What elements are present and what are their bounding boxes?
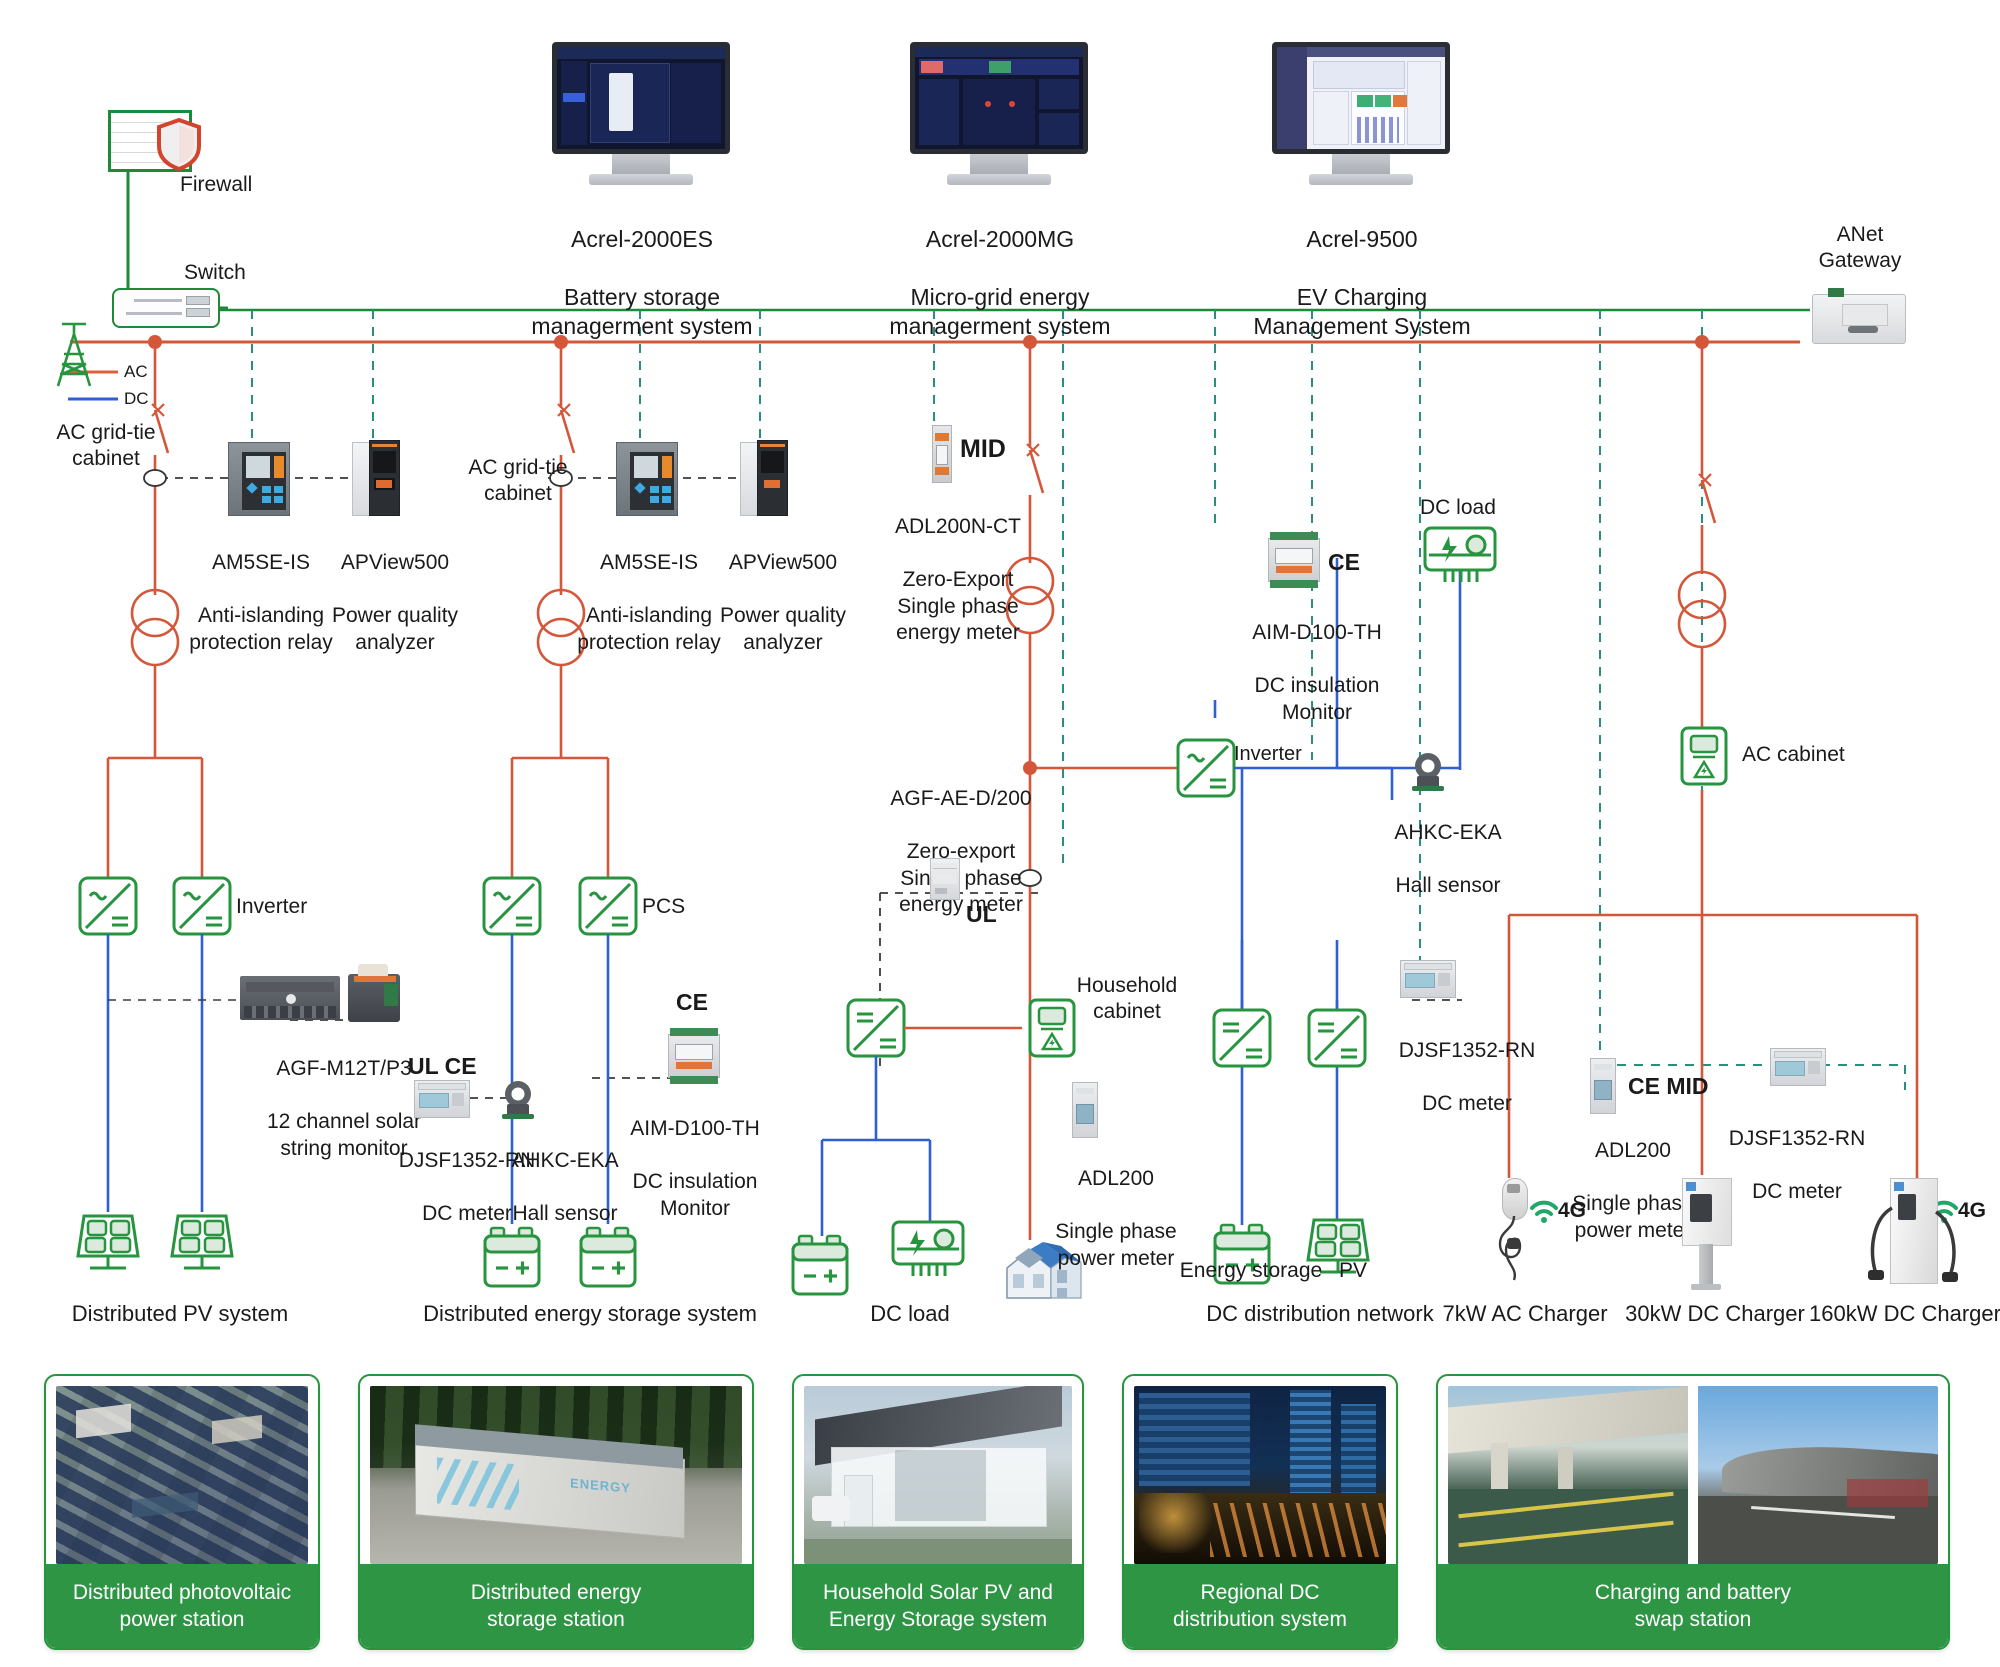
label-aim-d100-th-left: AIM-D100-TH DC insulation Monitor [600,1090,790,1222]
adl200n-ct-icon [932,425,952,483]
dev-desc: Power quality analyzer [332,604,458,653]
dev-name: AM5SE-IS [600,551,698,574]
grid-tower-icon [58,324,90,386]
aim-d100-th-icon-left [668,1028,720,1084]
card-household-solar[interactable]: Household Solar PV and Energy Storage sy… [792,1374,1084,1650]
label-adl200-household: ADL200 Single phase power meter [1026,1140,1206,1272]
label-apview-2: APView500 Power quality analyzer [706,524,860,656]
photo-city-night-skyline [1134,1386,1386,1564]
label-inverter-left: Inverter [236,894,307,920]
dev-name: AGF-M12T/P3 [276,1057,411,1080]
anet-gateway-label: ANet Gateway [1800,222,1920,275]
anet-gateway-icon [1812,288,1904,342]
agf-ae-d200-icon [930,858,960,900]
dev-name: AIM-D100-TH [630,1117,760,1140]
dev-name: AHKC-EKA [1394,821,1501,844]
cert-ul-ce-djsf-left: UL CE [408,1052,477,1081]
apview500-icon-2 [740,440,788,516]
dev-desc: Anti-islanding protection relay [189,604,333,653]
dev-name: APView500 [729,551,837,574]
agf-m12t-icon [240,976,340,1020]
cert-ce-aim-left: CE [676,988,708,1017]
label-distributed-pv-system: Distributed PV system [40,1300,320,1328]
monitor-acrel-2000mg [910,42,1088,188]
am5se-is-icon-2 [616,442,678,516]
label-ahkc-eka-mid: AHKC-EKA Hall sensor [1368,794,1528,900]
system-desc-2: EV Charging Management System [1253,284,1470,339]
label-ac-grid-tie-1: AC grid-tie cabinet [36,420,176,473]
monitor-acrel-2000es [552,42,730,188]
dev-name: AIM-D100-TH [1252,621,1382,644]
dev-desc: DC meter [1752,1180,1842,1203]
label-adl200n-ct: ADL200N-CT Zero-Export Single phase ener… [868,488,1048,647]
am5se-is-icon-1 [228,442,290,516]
aim-d100-th-icon-top [1268,532,1320,588]
dev-name: AGF-AE-D/200 [890,787,1031,810]
monitor-label-1: Acrel-2000MG Micro-grid energy managerme… [860,196,1140,341]
cert-ul-agf: UL [966,900,997,929]
dev-name: DJSF1352-RN [1729,1127,1866,1150]
system-name-2: Acrel-9500 [1306,226,1417,252]
dev-name: ADL200N-CT [895,515,1021,538]
firewall-label: Firewall [180,172,252,198]
legend-lines [68,372,118,399]
dev-name: ADL200 [1595,1139,1671,1162]
card-energy-storage[interactable]: ENERGY Distributed energy storage statio… [358,1374,754,1650]
label-4g-a: 4G [1558,1198,1586,1224]
dc-load-icon-top [1425,528,1495,582]
dev-desc: Hall sensor [1395,874,1500,897]
switch-label: Switch [184,260,246,286]
djsf1352-rn-icon-left [414,1080,470,1118]
label-ac-cabinet: AC cabinet [1742,742,1845,768]
label-charger-160kw: 160kW DC Charger [1795,1300,2000,1328]
system-desc-1: Micro-grid energy managerment system [889,284,1110,339]
label-pv: PV [1308,1258,1398,1284]
dev-desc: DC meter [1422,1092,1512,1115]
legend-ac-label: AC [124,361,148,382]
label-agf-ae-d200: AGF-AE-D/200 Zero-export Single phase en… [866,760,1056,919]
photo-ev-charging-canopy [1448,1386,1938,1564]
label-ac-grid-tie-2: AC grid-tie cabinet [448,455,588,508]
cert-mid-adl200n: MID [960,434,1006,466]
adl200-icon-household [1072,1082,1098,1138]
dev-desc: DC insulation Monitor [633,1170,758,1219]
photo-energy-storage-container: ENERGY [370,1386,742,1564]
dc-charger-160kw-icon [1862,1178,1962,1290]
card-regional-dc[interactable]: Regional DC distribution system [1122,1374,1398,1650]
monitor-label-2: Acrel-9500 EV Charging Management System [1222,196,1502,341]
hall-sensor-icon-mid [1412,753,1444,791]
label-djsf-dcnet: DJSF1352-RN DC meter [1372,1012,1562,1118]
adl200-icon-ev [1590,1058,1616,1114]
card-distributed-pv[interactable]: Distributed photovoltaic power station [44,1374,320,1650]
firewall-icon [108,110,192,172]
djsf1352-rn-icon-dcnet [1400,960,1456,998]
label-dc-load-top: DC load [1420,495,1496,521]
card-charging-swap[interactable]: Charging and battery swap station [1436,1374,1950,1650]
monitor-acrel-9500 [1272,42,1450,188]
cert-ce-mid-adl200-ev: CE MID [1628,1072,1709,1101]
legend-dc-label: DC [124,388,149,409]
agf-m12t-ct-icon [346,964,404,1022]
ac-cabinet-icon [1682,728,1726,784]
label-apview-1: APView500 Power quality analyzer [318,524,472,656]
card-caption-1: Distributed energy storage station [360,1564,752,1648]
cert-ce-aim-top: CE [1328,548,1360,577]
label-household-cabinet: Household cabinet [1052,973,1202,1026]
system-desc-0: Battery storage managerment system [531,284,752,339]
system-name-1: Acrel-2000MG [926,226,1074,252]
dev-name: DJSF1352-RN [1399,1039,1536,1062]
switch-icon [112,288,220,328]
card-caption-3: Regional DC distribution system [1124,1564,1396,1648]
djsf1352-rn-icon-ev [1770,1048,1826,1086]
hall-sensor-icon-left [502,1081,534,1119]
dev-name: APView500 [341,551,449,574]
label-charger-30kw: 30kW DC Charger [1610,1300,1820,1328]
dev-desc: Single phase power meter [1055,1220,1176,1269]
label-distributed-storage-system: Distributed energy storage system [400,1300,780,1328]
card-caption-0: Distributed photovoltaic power station [46,1564,318,1648]
system-name-0: Acrel-2000ES [571,226,713,252]
label-4g-b: 4G [1958,1198,1986,1224]
dev-name: AM5SE-IS [212,551,310,574]
dev-desc: Zero-Export Single phase energy meter [896,568,1020,644]
photo-modern-house-solar [804,1386,1072,1564]
label-charger-7kw: 7kW AC Charger [1425,1300,1625,1328]
label-dc-load-bottom: DC load [820,1300,1000,1328]
label-pcs: PCS [642,894,685,920]
label-inverter-mid: Inverter [1234,742,1302,767]
dc-charger-30kw-icon [1672,1178,1738,1290]
photo-aerial-solar-rooftops [56,1386,308,1564]
label-aim-d100-th-top: AIM-D100-TH DC insulation Monitor [1222,594,1412,726]
dev-desc: Zero-export Single phase energy meter [899,840,1023,916]
monitor-label-0: Acrel-2000ES Battery storage managerment… [502,196,782,341]
card-caption-4: Charging and battery swap station [1438,1564,1948,1648]
dev-desc: Power quality analyzer [720,604,846,653]
apview500-icon-1 [352,440,400,516]
card-caption-2: Household Solar PV and Energy Storage sy… [794,1564,1082,1648]
dev-name: ADL200 [1078,1167,1154,1190]
dev-desc: DC insulation Monitor [1255,674,1380,723]
dev-desc: Anti-islanding protection relay [577,604,721,653]
ac-charger-7kw-icon [1480,1178,1550,1286]
